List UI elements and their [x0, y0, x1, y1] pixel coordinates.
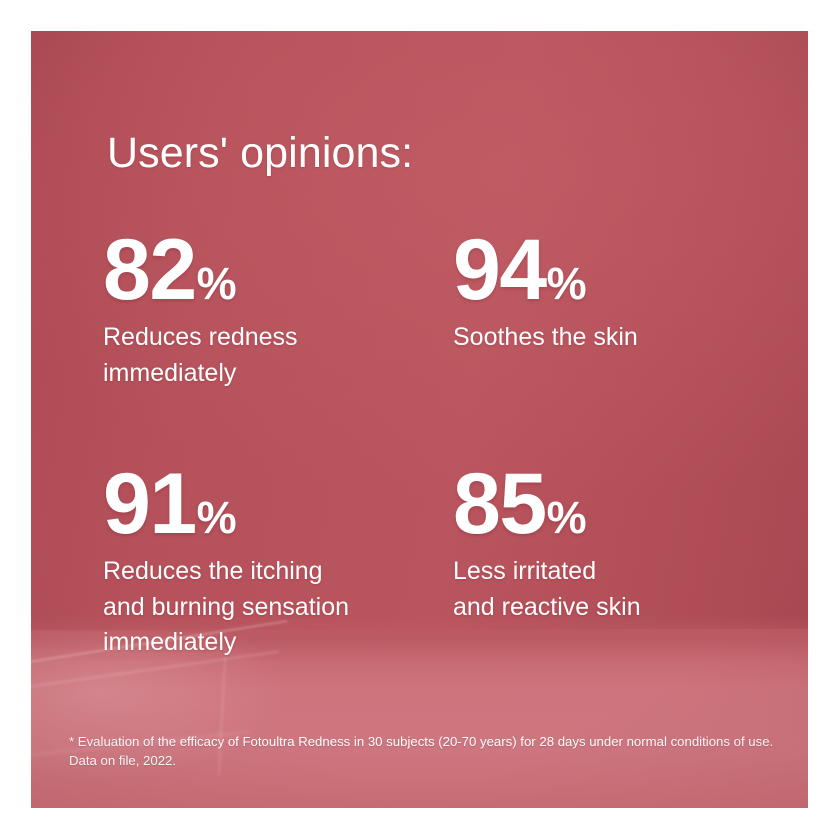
stat-value: 91: [103, 456, 196, 552]
stat-figure: 94%: [453, 227, 638, 313]
stat-description: Reduces the itching and burning sensatio…: [103, 554, 349, 661]
stat-figure: 82%: [103, 227, 298, 313]
study-footnote: * Evaluation of the efficacy of Fotoultr…: [69, 733, 783, 770]
stat-description: Less irritated and reactive skin: [453, 554, 641, 625]
stat-unit: %: [547, 258, 587, 309]
stat-value: 94: [453, 222, 546, 318]
stat-block-reduces-redness: 82% Reduces redness immediately: [103, 227, 298, 391]
stat-block-reduces-itching: 91% Reduces the itching and burning sens…: [103, 461, 349, 661]
stat-figure: 91%: [103, 461, 349, 547]
stat-unit: %: [547, 492, 587, 543]
panel-content: Users' opinions: 82% Reduces redness imm…: [31, 31, 808, 808]
stat-figure: 85%: [453, 461, 641, 547]
stat-value: 85: [453, 456, 546, 552]
page-title: Users' opinions:: [107, 129, 413, 178]
stat-description: Soothes the skin: [453, 320, 638, 356]
stat-value: 82: [103, 222, 196, 318]
stat-block-soothes-the-skin: 94% Soothes the skin: [453, 227, 638, 356]
stat-unit: %: [197, 492, 237, 543]
poster-canvas: Users' opinions: 82% Reduces redness imm…: [0, 0, 840, 840]
stat-block-less-irritated: 85% Less irritated and reactive skin: [453, 461, 641, 625]
stat-unit: %: [197, 258, 237, 309]
red-panel: Users' opinions: 82% Reduces redness imm…: [31, 31, 808, 808]
stat-description: Reduces redness immediately: [103, 320, 298, 391]
